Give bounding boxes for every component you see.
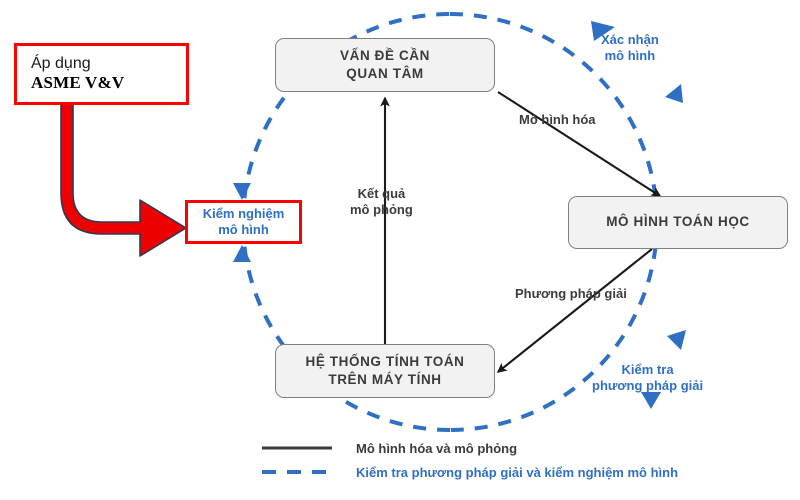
diagram-canvas: VẤN ĐỀ CẦN QUAN TÂM MÔ HÌNH TOÁN HỌC HỆ …: [0, 0, 800, 500]
label-model-validation: Xác nhận mô hình: [601, 32, 659, 65]
legend-row-solid: Mô hình hóa và mô phỏng: [262, 436, 678, 460]
node-computer-line1: HỆ THỐNG TÍNH TOÁN: [305, 353, 464, 371]
apply-asme-box[interactable]: Áp dụng ASME V&V: [14, 43, 189, 105]
legend-row-dashed: Kiểm tra phương pháp giải và kiểm nghiệm…: [262, 460, 678, 484]
node-problem-line1: VẤN ĐỀ CẦN: [340, 47, 430, 65]
label-simulation-result: Kết quả mô phỏng: [350, 186, 413, 219]
label-modeling: Mô hình hóa: [519, 112, 596, 128]
legend-label-solid: Mô hình hóa và mô phỏng: [356, 441, 517, 456]
node-math-model-line1: MÔ HÌNH TOÁN HỌC: [606, 213, 750, 231]
model-validation-box[interactable]: Kiểm nghiệm mô hình: [185, 200, 302, 244]
legend-solid-line-icon: [262, 442, 332, 454]
red-apply-arrow: [61, 104, 186, 256]
node-problem-line2: QUAN TÂM: [340, 65, 430, 83]
node-problem[interactable]: VẤN ĐỀ CẦN QUAN TÂM: [275, 38, 495, 92]
model-validation-line1: Kiểm nghiệm: [203, 206, 285, 222]
node-computer[interactable]: HỆ THỐNG TÍNH TOÁN TRÊN MÁY TÍNH: [275, 344, 495, 398]
model-validation-line2: mô hình: [218, 222, 269, 238]
node-computer-line2: TRÊN MÁY TÍNH: [305, 371, 464, 389]
label-method-verification: Kiểm tra phương pháp giải: [592, 362, 703, 395]
legend-label-dashed: Kiểm tra phương pháp giải và kiểm nghiệm…: [356, 465, 678, 480]
legend-dashed-line-icon: [262, 466, 332, 478]
apply-asme-line1: Áp dụng: [31, 55, 186, 73]
node-math-model[interactable]: MÔ HÌNH TOÁN HỌC: [568, 196, 788, 249]
apply-asme-line2: ASME V&V: [31, 73, 186, 93]
label-solution-method: Phương pháp giải: [515, 286, 627, 302]
legend: Mô hình hóa và mô phỏng Kiểm tra phương …: [262, 436, 678, 484]
